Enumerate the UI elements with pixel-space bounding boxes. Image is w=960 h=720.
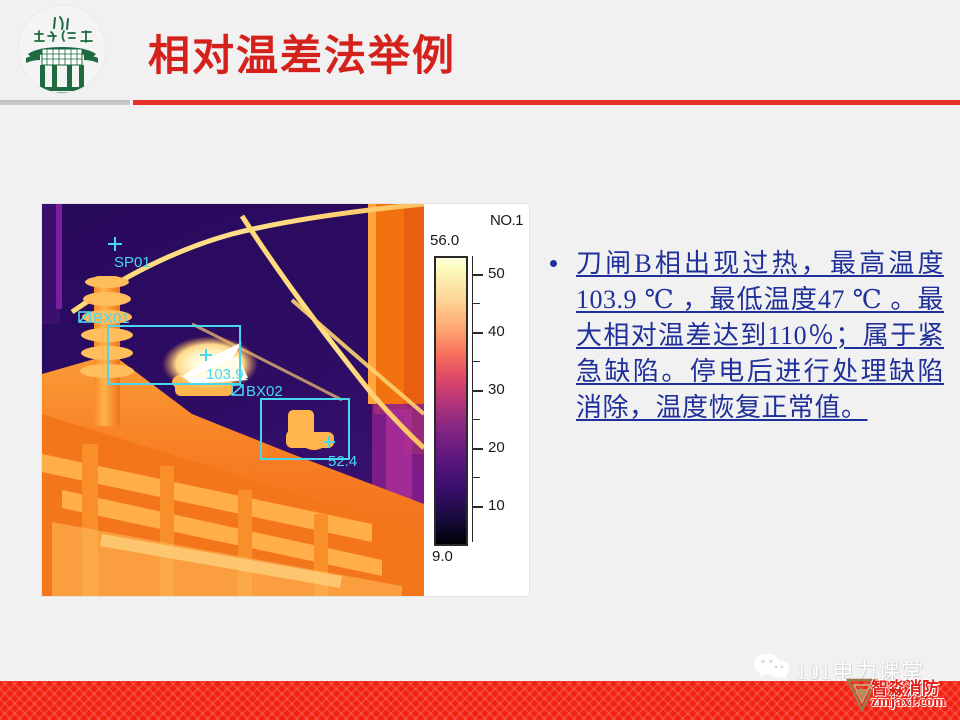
marker-bx02-label: BX02 — [246, 383, 283, 400]
page-title: 相对温差法举例 — [148, 22, 456, 83]
colorbar-minor-tick — [472, 419, 480, 420]
divider-gray — [0, 100, 130, 105]
colorbar-tick-label-30: 30 — [488, 381, 505, 398]
watermark-text-url: zmjaxf.com — [871, 694, 946, 711]
bullet-marker — [550, 260, 557, 267]
colorbar-min-label: 9.0 — [432, 548, 453, 565]
body-paragraph: 刀闸B相出现过热，最高温度103.9 ℃ ，最低温度47 ℃ 。最大相对温差达到… — [576, 246, 944, 426]
body-text-block: 刀闸B相出现过热，最高温度103.9 ℃ ，最低温度47 ℃ 。最大相对温差达到… — [544, 246, 944, 426]
colorbar-camera-label: NO.1 — [490, 212, 523, 229]
colorbar-tick-label-50: 50 — [488, 265, 505, 282]
colorbar-tick-label-40: 40 — [488, 323, 505, 340]
colorbar-tick-label-10: 10 — [488, 497, 505, 514]
colorbar-tick-40 — [472, 332, 483, 334]
colorbar-minor-tick — [472, 477, 480, 478]
wechat-icon — [752, 652, 792, 680]
marker-sp01-label: SP01 — [114, 254, 151, 271]
thermal-figure: SP01 BX01 103.9 — [42, 204, 529, 596]
colorbar-max-label: 56.0 — [430, 232, 459, 249]
colorbar-panel: NO.1 56.0 50 40 30 20 10 9.0 — [424, 204, 529, 596]
colorbar-tick-50 — [472, 274, 483, 276]
colorbar-tick-label-20: 20 — [488, 439, 505, 456]
colorbar-tick-10 — [472, 506, 483, 508]
marker-bx01-label: BX01 — [93, 310, 130, 327]
colorbar-minor-tick — [472, 303, 480, 304]
brand-logo — [14, 2, 110, 98]
marker-bx01-value: 103.9 — [206, 366, 244, 383]
colorbar-axis — [472, 256, 473, 542]
watermark-stamp: 智淼消防 zmjaxf.com — [845, 674, 957, 716]
footer-bar — [0, 681, 960, 720]
divider-red — [133, 100, 960, 105]
slide-root: 相对温差法举例 — [0, 0, 960, 720]
colorbar-minor-tick — [472, 361, 480, 362]
colorbar-tick-30 — [472, 390, 483, 392]
marker-bx02-value: 52.4 — [328, 453, 357, 470]
colorbar-tick-20 — [472, 448, 483, 450]
colorbar-gradient — [434, 256, 468, 546]
thermal-image: SP01 BX01 103.9 — [42, 204, 424, 596]
